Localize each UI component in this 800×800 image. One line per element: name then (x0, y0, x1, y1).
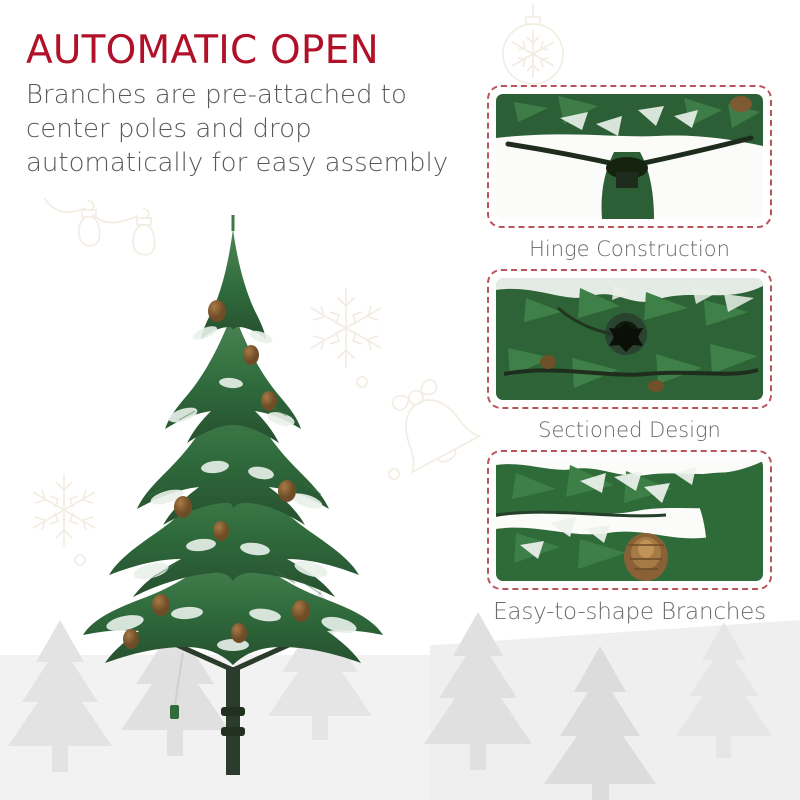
snow-tipped-branch-pinecone-closeup-photo (496, 459, 763, 581)
page-title: AUTOMATIC OPEN (26, 30, 471, 72)
page-subtitle: Branches are pre-attached to center pole… (26, 79, 471, 180)
product-image-tree (55, 215, 415, 775)
feature-caption: Easy-to-shape Branches (487, 590, 772, 624)
hinge-joint-closeup-photo (496, 94, 763, 219)
feature-panel-hinge: Hinge Construction (487, 85, 772, 260)
feature-caption: Hinge Construction (487, 228, 772, 260)
feature-panel-list: Hinge Construction (487, 85, 772, 633)
infographic-canvas: AUTOMATIC OPEN Branches are pre-attached… (0, 0, 800, 800)
branch-socket-closeup-photo (496, 278, 763, 400)
photo-frame (487, 85, 772, 228)
feature-panel-branches: Easy-to-shape Branches (487, 450, 772, 624)
feature-caption: Sectioned Design (487, 409, 772, 441)
ornament-ball-snowflake-icon (498, 4, 568, 88)
photo-frame (487, 450, 772, 590)
photo-frame (487, 269, 772, 409)
feature-panel-sectioned: Sectioned Design (487, 269, 772, 441)
headline-block: AUTOMATIC OPEN Branches are pre-attached… (26, 30, 471, 181)
